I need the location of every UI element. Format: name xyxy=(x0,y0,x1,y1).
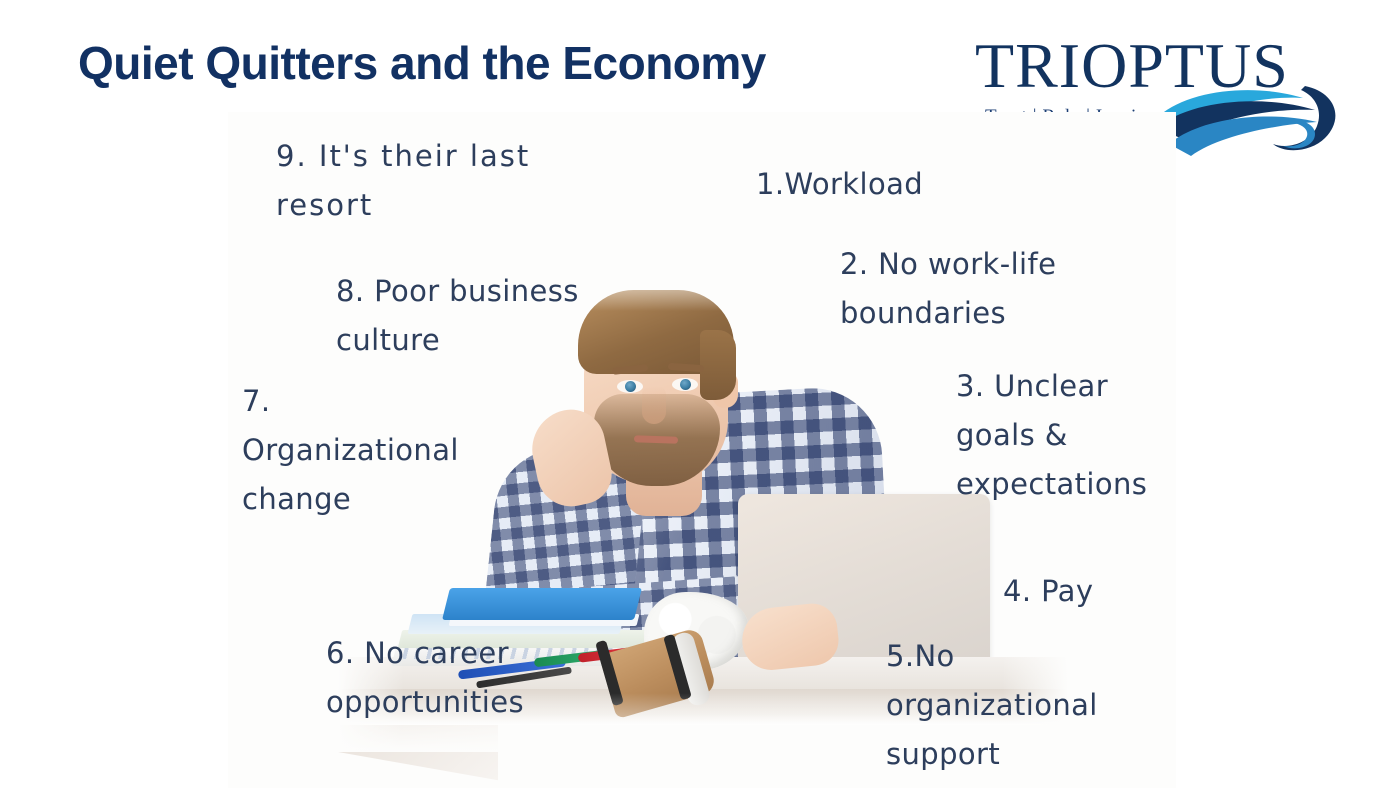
hair-side xyxy=(700,330,736,400)
logo-wordmark: TRIOPTUS xyxy=(975,34,1289,98)
slide-canvas: Quiet Quitters and the Economy TRIOPTUS … xyxy=(0,0,1400,788)
note-3: 3. Unclear goals & expectations xyxy=(956,362,1176,509)
iris-right xyxy=(680,379,691,390)
note-9: 9. It's their last resort xyxy=(276,132,636,230)
note-7: 7. Organizational change xyxy=(242,377,492,524)
note-8: 8. Poor business culture xyxy=(336,267,636,365)
blue-book xyxy=(442,588,642,620)
eye-right xyxy=(672,378,698,391)
iris-left xyxy=(625,381,636,392)
eye-left xyxy=(617,380,643,393)
note-5: 5.No organizational support xyxy=(886,632,1136,779)
nose xyxy=(642,386,666,424)
note-1: 1.Workload xyxy=(756,160,1016,209)
note-6: 6. No career opportunities xyxy=(326,629,606,727)
note-4: 4. Pay xyxy=(1003,567,1176,616)
note-2: 2. No work-life boundaries xyxy=(840,240,1120,338)
content-image: 9. It's their last resort 8. Poor busine… xyxy=(228,112,1176,788)
mouth xyxy=(634,435,678,444)
page-title: Quiet Quitters and the Economy xyxy=(78,36,766,90)
